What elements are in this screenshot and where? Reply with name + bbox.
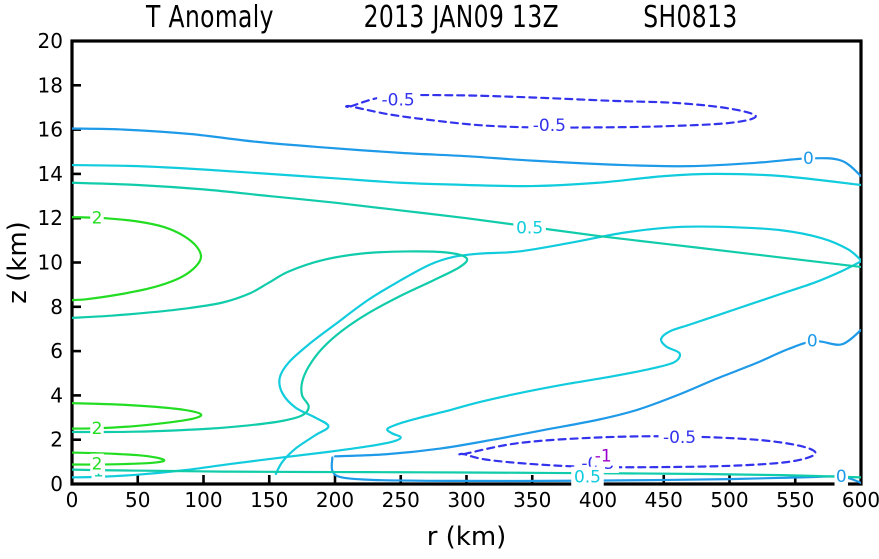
contour-line: [459, 436, 816, 467]
x-tick-label: 300: [447, 488, 485, 512]
contour-value-label: -0.5: [533, 116, 566, 136]
x-tick-label: 400: [579, 488, 617, 512]
contour-value-label: 0.5: [574, 468, 601, 488]
contour-value-label: 2: [92, 209, 103, 229]
contour-value-label: -0.5: [663, 428, 696, 448]
x-tick-label: 350: [513, 488, 551, 512]
contour-value-label: 2: [92, 419, 103, 439]
contour-line: [72, 165, 861, 186]
y-tick-label: 20: [38, 29, 63, 53]
x-tick-label: 550: [776, 488, 814, 512]
contour-line: [276, 227, 861, 475]
contour-value-label: 0: [836, 467, 847, 487]
x-tick-label: 600: [842, 488, 879, 512]
contour-value-label: 0.5: [516, 219, 543, 239]
y-tick-label: 0: [50, 472, 63, 496]
y-tick-label: 14: [38, 162, 63, 186]
contour-value-label: 0: [807, 332, 818, 352]
y-axis-title: z (km): [3, 221, 33, 304]
contour-line: [72, 217, 201, 300]
x-tick-label: 0: [66, 488, 79, 512]
y-tick-label: 6: [50, 339, 63, 363]
figure-canvas: T Anomaly 2013 JAN09 13Z SH0813 05010015…: [0, 0, 879, 559]
contour-lines: [72, 95, 861, 483]
y-tick-label: 10: [38, 251, 63, 275]
x-tick-label: 450: [645, 488, 683, 512]
y-tick-label: 12: [38, 206, 63, 230]
x-tick-label: 250: [382, 488, 420, 512]
x-tick-label: 100: [184, 488, 222, 512]
contour-value-label: -1: [595, 447, 612, 467]
x-axis-title: r (km): [427, 522, 507, 552]
contour-value-label: 2: [92, 455, 103, 475]
x-tick-label: 150: [250, 488, 288, 512]
x-tick-label: 500: [710, 488, 748, 512]
y-tick-label: 4: [50, 383, 63, 407]
contour-value-label: -0.5: [382, 91, 415, 111]
x-tick-label: 200: [316, 488, 354, 512]
contour-value-label: 0: [803, 149, 814, 169]
contour-line: [72, 453, 164, 465]
y-tick-label: 16: [38, 118, 63, 142]
y-tick-label: 2: [50, 428, 63, 452]
contour-plot: 0501001502002503003504004505005506000246…: [0, 0, 879, 559]
y-tick-label: 18: [38, 73, 63, 97]
y-tick-label: 8: [50, 295, 63, 319]
x-tick-label: 50: [125, 488, 150, 512]
